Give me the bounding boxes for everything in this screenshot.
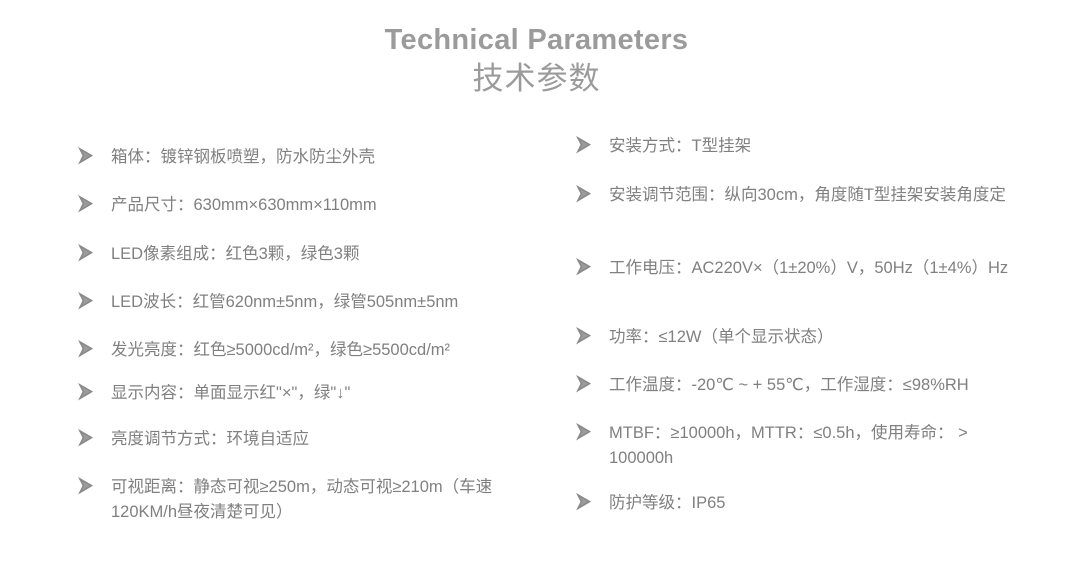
spec-item-text: 产品尺寸：630mm×630mm×110mm xyxy=(111,193,377,218)
spec-item-text: 显示内容：单面显示红"×"，绿"↓" xyxy=(111,381,350,406)
spec-item: 安装方式：T型挂架 xyxy=(576,134,751,159)
spec-item-text: 箱体：镀锌钢板喷塑，防水防尘外壳 xyxy=(111,145,375,170)
arrowhead-right-icon xyxy=(78,145,98,167)
arrowhead-right-icon xyxy=(576,256,596,278)
arrowhead-right-icon xyxy=(576,183,596,205)
arrowhead-right-icon xyxy=(78,338,98,360)
arrowhead-right-icon xyxy=(78,242,98,264)
page-title-english: Technical Parameters xyxy=(0,22,1073,58)
spec-item-text: 功率：≤12W（单个显示状态） xyxy=(609,325,833,350)
spec-item: LED像素组成：红色3颗，绿色3颗 xyxy=(78,242,359,267)
spec-item: 可视距离：静态可视≥250m，动态可视≥210m（车速120KM/h昼夜清楚可见… xyxy=(78,475,548,525)
spec-item: 显示内容：单面显示红"×"，绿"↓" xyxy=(78,381,350,406)
spec-item-text: 防护等级：IP65 xyxy=(609,491,725,516)
arrowhead-right-icon xyxy=(576,373,596,395)
spec-item: 发光亮度：红色≥5000cd/m²，绿色≥5500cd/m² xyxy=(78,338,450,363)
arrowhead-right-icon xyxy=(576,134,596,156)
arrowhead-right-icon xyxy=(576,491,596,513)
spec-item-text: 发光亮度：红色≥5000cd/m²，绿色≥5500cd/m² xyxy=(111,338,450,363)
spec-item: 安装调节范围：纵向30cm，角度随T型挂架安装角度定 xyxy=(576,183,1006,208)
page-heading: Technical Parameters 技术参数 xyxy=(0,22,1073,100)
arrowhead-right-icon xyxy=(576,325,596,347)
spec-item-text: MTBF：≥10000h，MTTR：≤0.5h，使用寿命： > 100000h xyxy=(609,421,1021,471)
spec-item: 亮度调节方式：环境自适应 xyxy=(78,427,309,452)
spec-columns: 箱体：镀锌钢板喷塑，防水防尘外壳产品尺寸：630mm×630mm×110mmLE… xyxy=(0,128,1073,558)
spec-item-text: LED波长：红管620nm±5nm，绿管505nm±5nm xyxy=(111,290,458,315)
spec-item: MTBF：≥10000h，MTTR：≤0.5h，使用寿命： > 100000h xyxy=(576,421,1021,471)
spec-item: 工作温度：-20℃ ~ + 55℃，工作湿度：≤98%RH xyxy=(576,373,969,398)
spec-item: 产品尺寸：630mm×630mm×110mm xyxy=(78,193,377,218)
page-title-chinese: 技术参数 xyxy=(0,58,1073,100)
arrowhead-right-icon xyxy=(78,381,98,403)
spec-item-text: 亮度调节方式：环境自适应 xyxy=(111,427,309,452)
arrowhead-right-icon xyxy=(78,427,98,449)
spec-item-text: 工作电压：AC220V×（1±20%）V，50Hz（1±4%）Hz xyxy=(609,256,1008,281)
spec-item-text: 安装调节范围：纵向30cm，角度随T型挂架安装角度定 xyxy=(609,183,1006,208)
spec-item: 工作电压：AC220V×（1±20%）V，50Hz（1±4%）Hz xyxy=(576,256,1008,281)
spec-item-text: 可视距离：静态可视≥250m，动态可视≥210m（车速120KM/h昼夜清楚可见… xyxy=(111,475,548,525)
arrowhead-right-icon xyxy=(576,421,596,443)
spec-item: LED波长：红管620nm±5nm，绿管505nm±5nm xyxy=(78,290,458,315)
spec-item: 功率：≤12W（单个显示状态） xyxy=(576,325,833,350)
arrowhead-right-icon xyxy=(78,475,98,497)
spec-item: 箱体：镀锌钢板喷塑，防水防尘外壳 xyxy=(78,145,375,170)
arrowhead-right-icon xyxy=(78,193,98,215)
spec-item-text: LED像素组成：红色3颗，绿色3颗 xyxy=(111,242,359,267)
technical-parameters-page: Technical Parameters 技术参数 箱体：镀锌钢板喷塑，防水防尘… xyxy=(0,0,1073,572)
spec-item-text: 工作温度：-20℃ ~ + 55℃，工作湿度：≤98%RH xyxy=(609,373,969,398)
spec-item-text: 安装方式：T型挂架 xyxy=(609,134,751,159)
spec-item: 防护等级：IP65 xyxy=(576,491,725,516)
arrowhead-right-icon xyxy=(78,290,98,312)
